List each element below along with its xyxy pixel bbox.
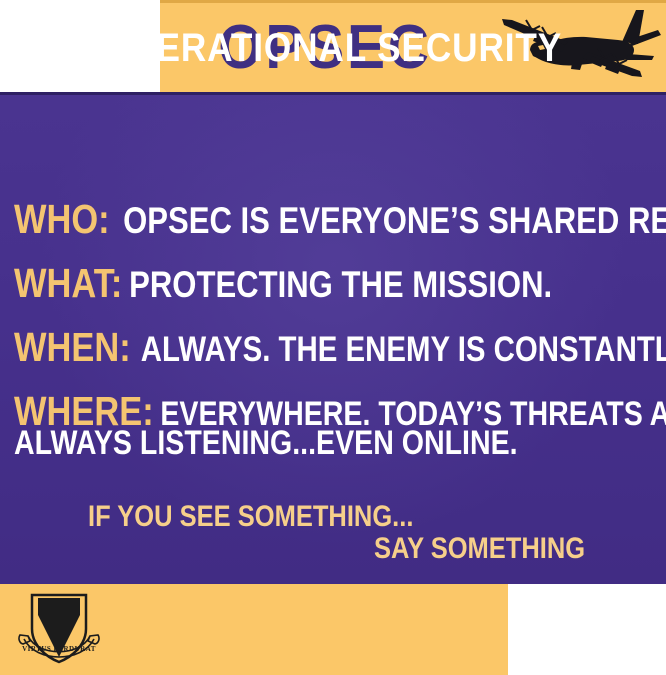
panel-top-rule xyxy=(0,92,666,95)
qa-label-what: WHAT: xyxy=(14,260,122,306)
panel-subtitle: OPERATIONAL SECURITY xyxy=(40,26,626,71)
air-force-shield-emblem xyxy=(16,591,102,667)
header-top-rule xyxy=(160,0,666,3)
qa-line-what: WHAT:PROTECTING THE MISSION. xyxy=(14,260,664,307)
qa-text-when: ALWAYS. THE ENEMY IS CONSTANTLY WATCHING… xyxy=(141,330,666,369)
qa-text-where-line2: ALWAYS LISTENING...EVEN ONLINE. xyxy=(14,424,518,462)
qa-text-what: PROTECTING THE MISSION. xyxy=(129,264,552,305)
cta-line-1: IF YOU SEE SOMETHING... xyxy=(88,500,471,534)
emblem-motto: VIRTUS PERDURAT xyxy=(16,645,102,653)
cta-line-2: SAY SOMETHING xyxy=(374,532,622,566)
qa-text-who: OPSEC IS EVERYONE’S SHARED RESPONSIBILIT… xyxy=(123,200,666,241)
qa-line-who: WHO:OPSEC IS EVERYONE’S SHARED RESPONSIB… xyxy=(14,196,664,243)
qa-line-when: WHEN:ALWAYS. THE ENEMY IS CONSTANTLY WAT… xyxy=(14,324,664,371)
qa-label-who: WHO: xyxy=(14,196,110,242)
qa-line-where-continued: ALWAYS LISTENING...EVEN ONLINE. xyxy=(14,424,664,463)
opsec-poster: OPSEC xyxy=(0,0,666,675)
qa-label-when: WHEN: xyxy=(14,324,131,370)
